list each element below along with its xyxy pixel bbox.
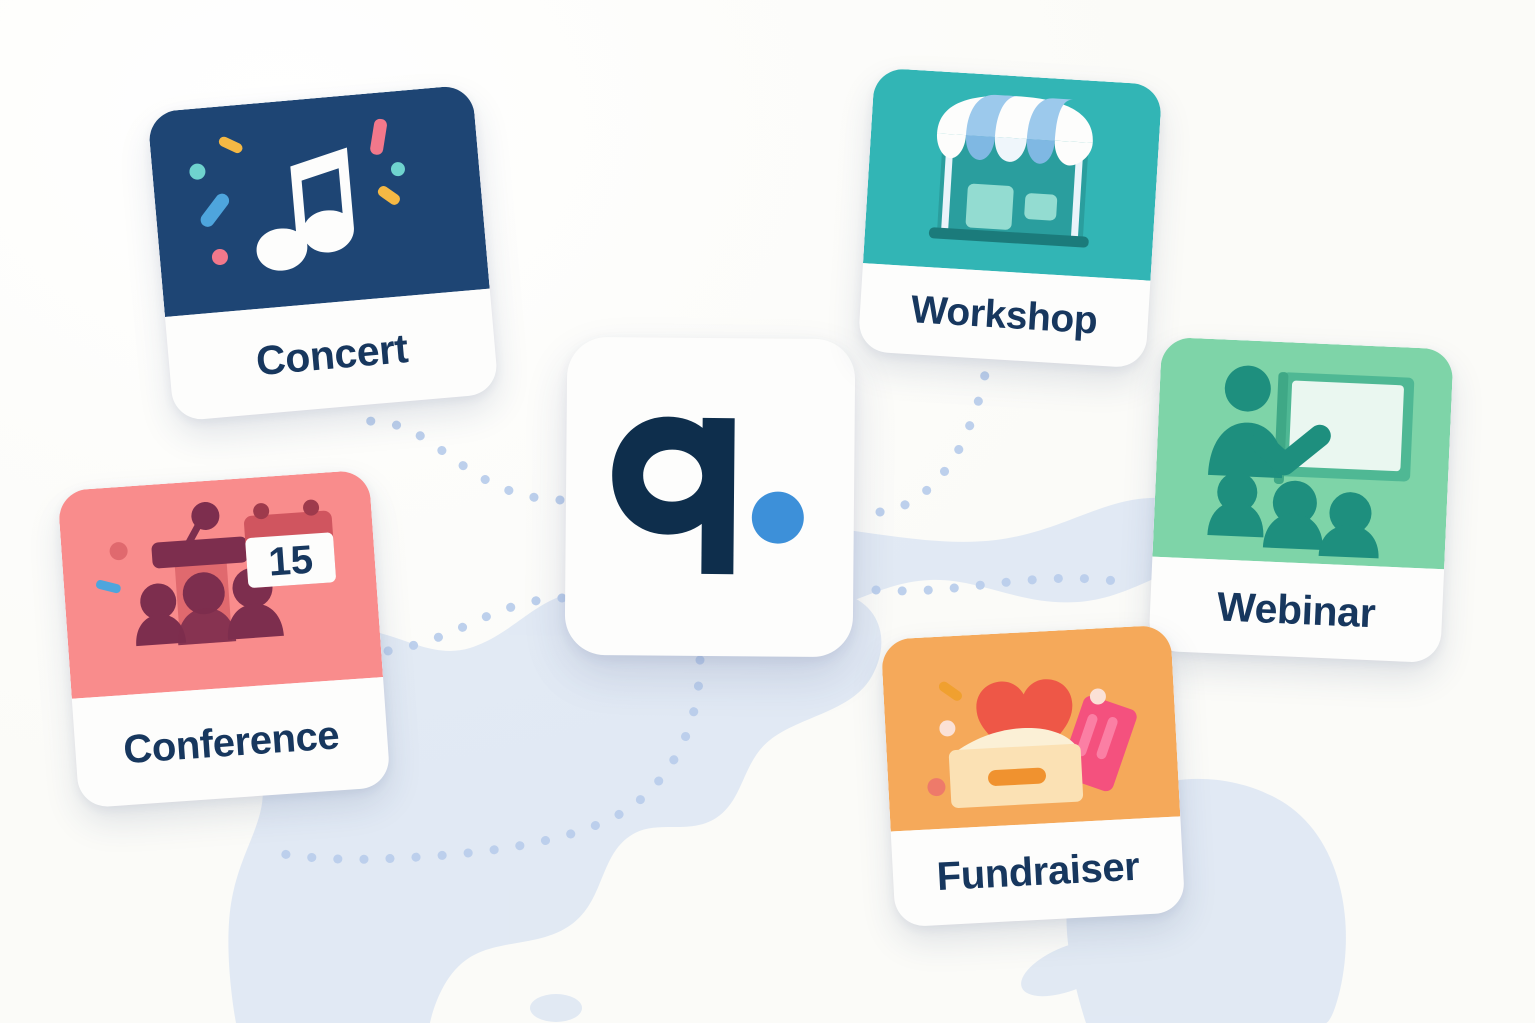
brand-logo-card[interactable] — [565, 337, 856, 658]
event-card-conference[interactable]: 15 Conference — [57, 470, 390, 809]
logo-blue-dot — [752, 491, 804, 543]
connector-logo-to-workshop — [880, 368, 986, 512]
box-slot — [988, 767, 1047, 786]
calendar-day-text: 15 — [267, 538, 314, 585]
store-window-large — [965, 183, 1014, 230]
workshop-card-label: Workshop — [858, 263, 1151, 368]
connector-logo-to-concert — [348, 421, 560, 500]
fundraiser-card-artwork — [881, 625, 1181, 832]
concert-card-artwork — [147, 84, 490, 317]
logo-letter-q — [611, 416, 734, 574]
map-island-c — [530, 994, 582, 1022]
conference-card-label: Conference — [72, 677, 391, 808]
concert-art-background — [147, 84, 490, 317]
event-card-workshop[interactable]: Workshop — [858, 67, 1163, 368]
connector-logo-to-conference — [372, 598, 562, 652]
quno-logo — [609, 411, 810, 583]
map-island-a — [1014, 928, 1127, 1008]
event-card-fundraiser[interactable]: Fundraiser — [881, 625, 1186, 928]
connector-logo-to-webinar — [876, 578, 1136, 591]
map-island-b — [1168, 982, 1240, 1018]
event-card-webinar[interactable]: Webinar — [1148, 337, 1453, 663]
conference-card-artwork: 15 — [57, 470, 383, 699]
fundraiser-card-label: Fundraiser — [891, 816, 1186, 927]
event-card-concert[interactable]: Concert — [147, 84, 499, 421]
event-types-hero-illustration: Concert — [0, 0, 1535, 1023]
storefront-icon — [929, 91, 1098, 247]
webinar-card-label: Webinar — [1148, 557, 1444, 664]
webinar-card-artwork — [1152, 337, 1453, 570]
store-window-small — [1024, 193, 1058, 221]
workshop-card-artwork — [863, 67, 1162, 280]
